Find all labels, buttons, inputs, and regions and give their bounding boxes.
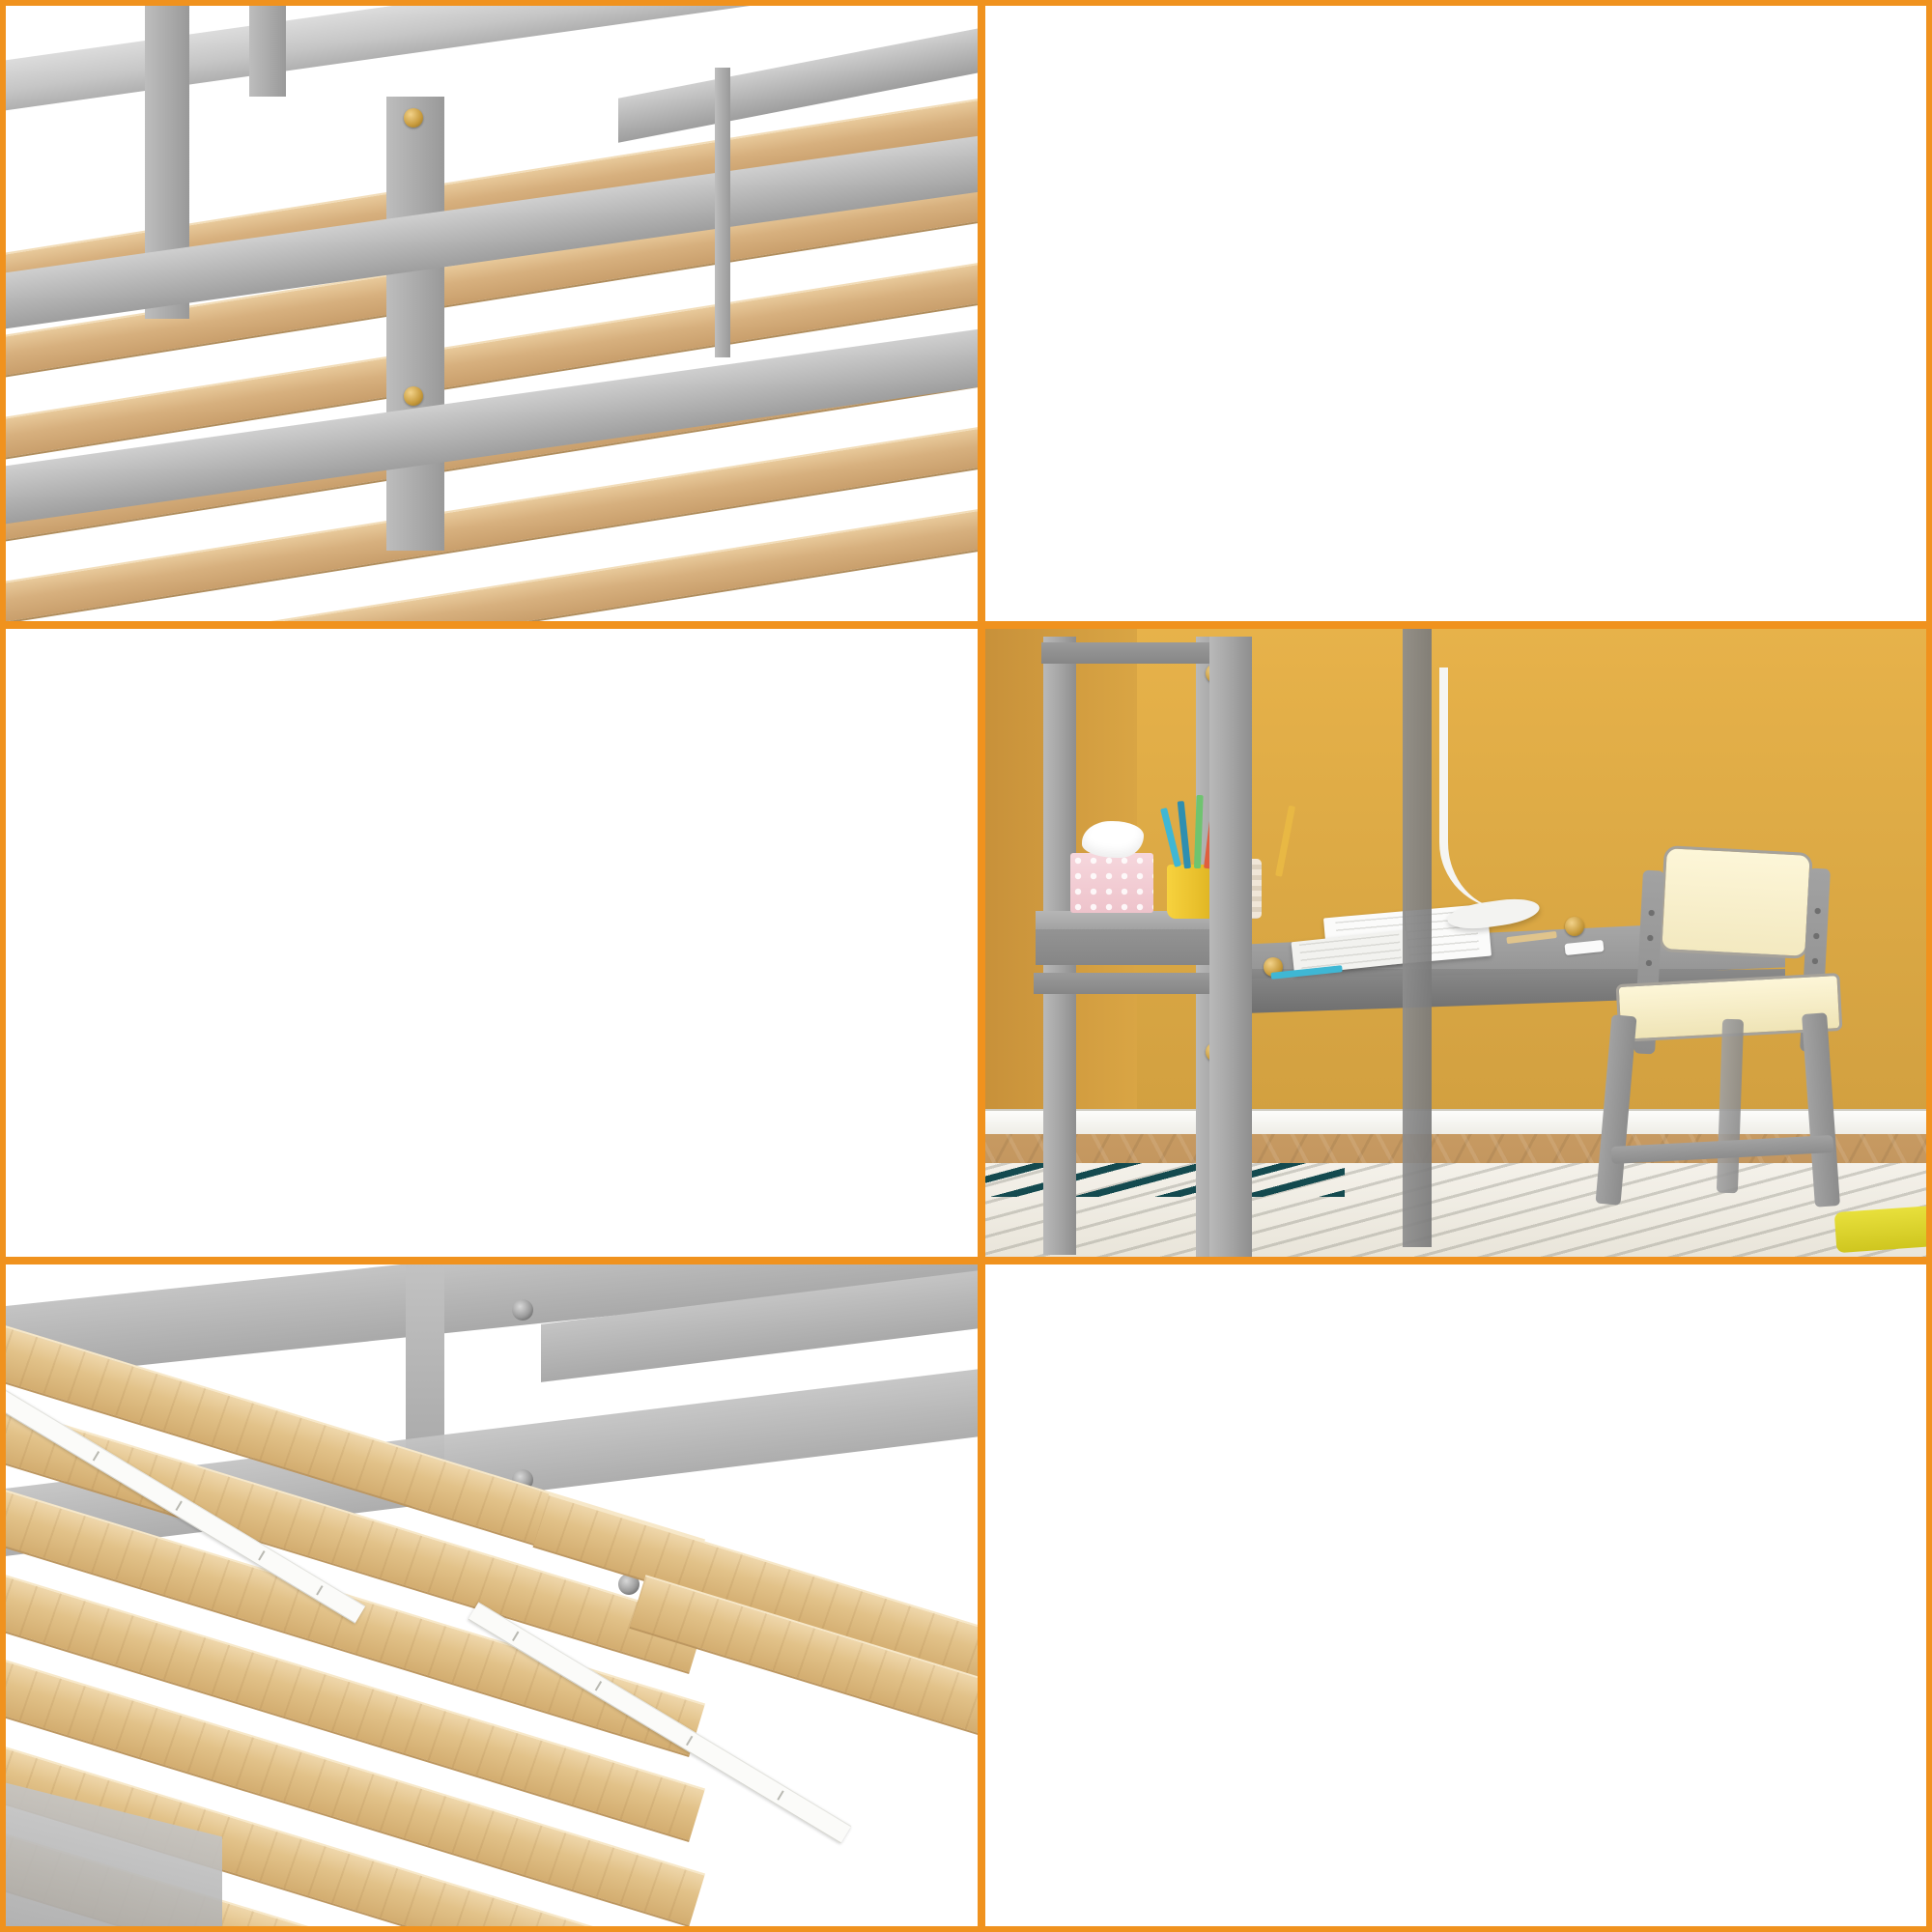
rail-post-center xyxy=(386,97,444,551)
brass-screw-icon xyxy=(1565,917,1584,936)
border-right xyxy=(1926,0,1932,1932)
brass-screw-icon xyxy=(404,386,423,406)
photo-cell-desk-scene xyxy=(985,629,1932,1257)
brass-screw-icon xyxy=(404,108,423,128)
chair-backrest xyxy=(1659,845,1813,959)
desk-scene-photo xyxy=(985,629,1932,1257)
rail-slim-post xyxy=(715,68,730,357)
rug-teal-stripes xyxy=(985,1163,1345,1198)
lamp-cord xyxy=(1439,668,1506,909)
bed-post-rear xyxy=(1403,629,1432,1247)
tissue-box-dots xyxy=(1070,853,1153,913)
wood-slats-photo xyxy=(0,1264,978,1932)
baseboard xyxy=(985,1109,1932,1137)
yellow-toy xyxy=(1834,1205,1932,1253)
screw-icon xyxy=(512,1299,533,1321)
text-cell-wood-slat-support: WOOD SLAT SUPPORT Wood slat support: can… xyxy=(985,1264,1932,1932)
text-cell-childrens-desk: CHILDREN'S DESK Children's desk: uniquel… xyxy=(0,629,978,1257)
rail-post-inner xyxy=(249,0,286,97)
photo-cell-wood-slats xyxy=(0,1264,978,1932)
border-top xyxy=(0,0,1932,6)
border-bottom xyxy=(0,1926,1932,1932)
tissue-box xyxy=(1070,853,1153,913)
text-cell-high-fence: HIGH FENCE from accidentally rolling out… xyxy=(985,0,1932,621)
bed-post-front xyxy=(1209,637,1252,1257)
bed-rail-photo xyxy=(0,0,978,621)
border-left xyxy=(0,0,6,1932)
photo-cell-bed-rail xyxy=(0,0,978,621)
infographic-sheet: HIGH FENCE from accidentally rolling out… xyxy=(0,0,1932,1932)
